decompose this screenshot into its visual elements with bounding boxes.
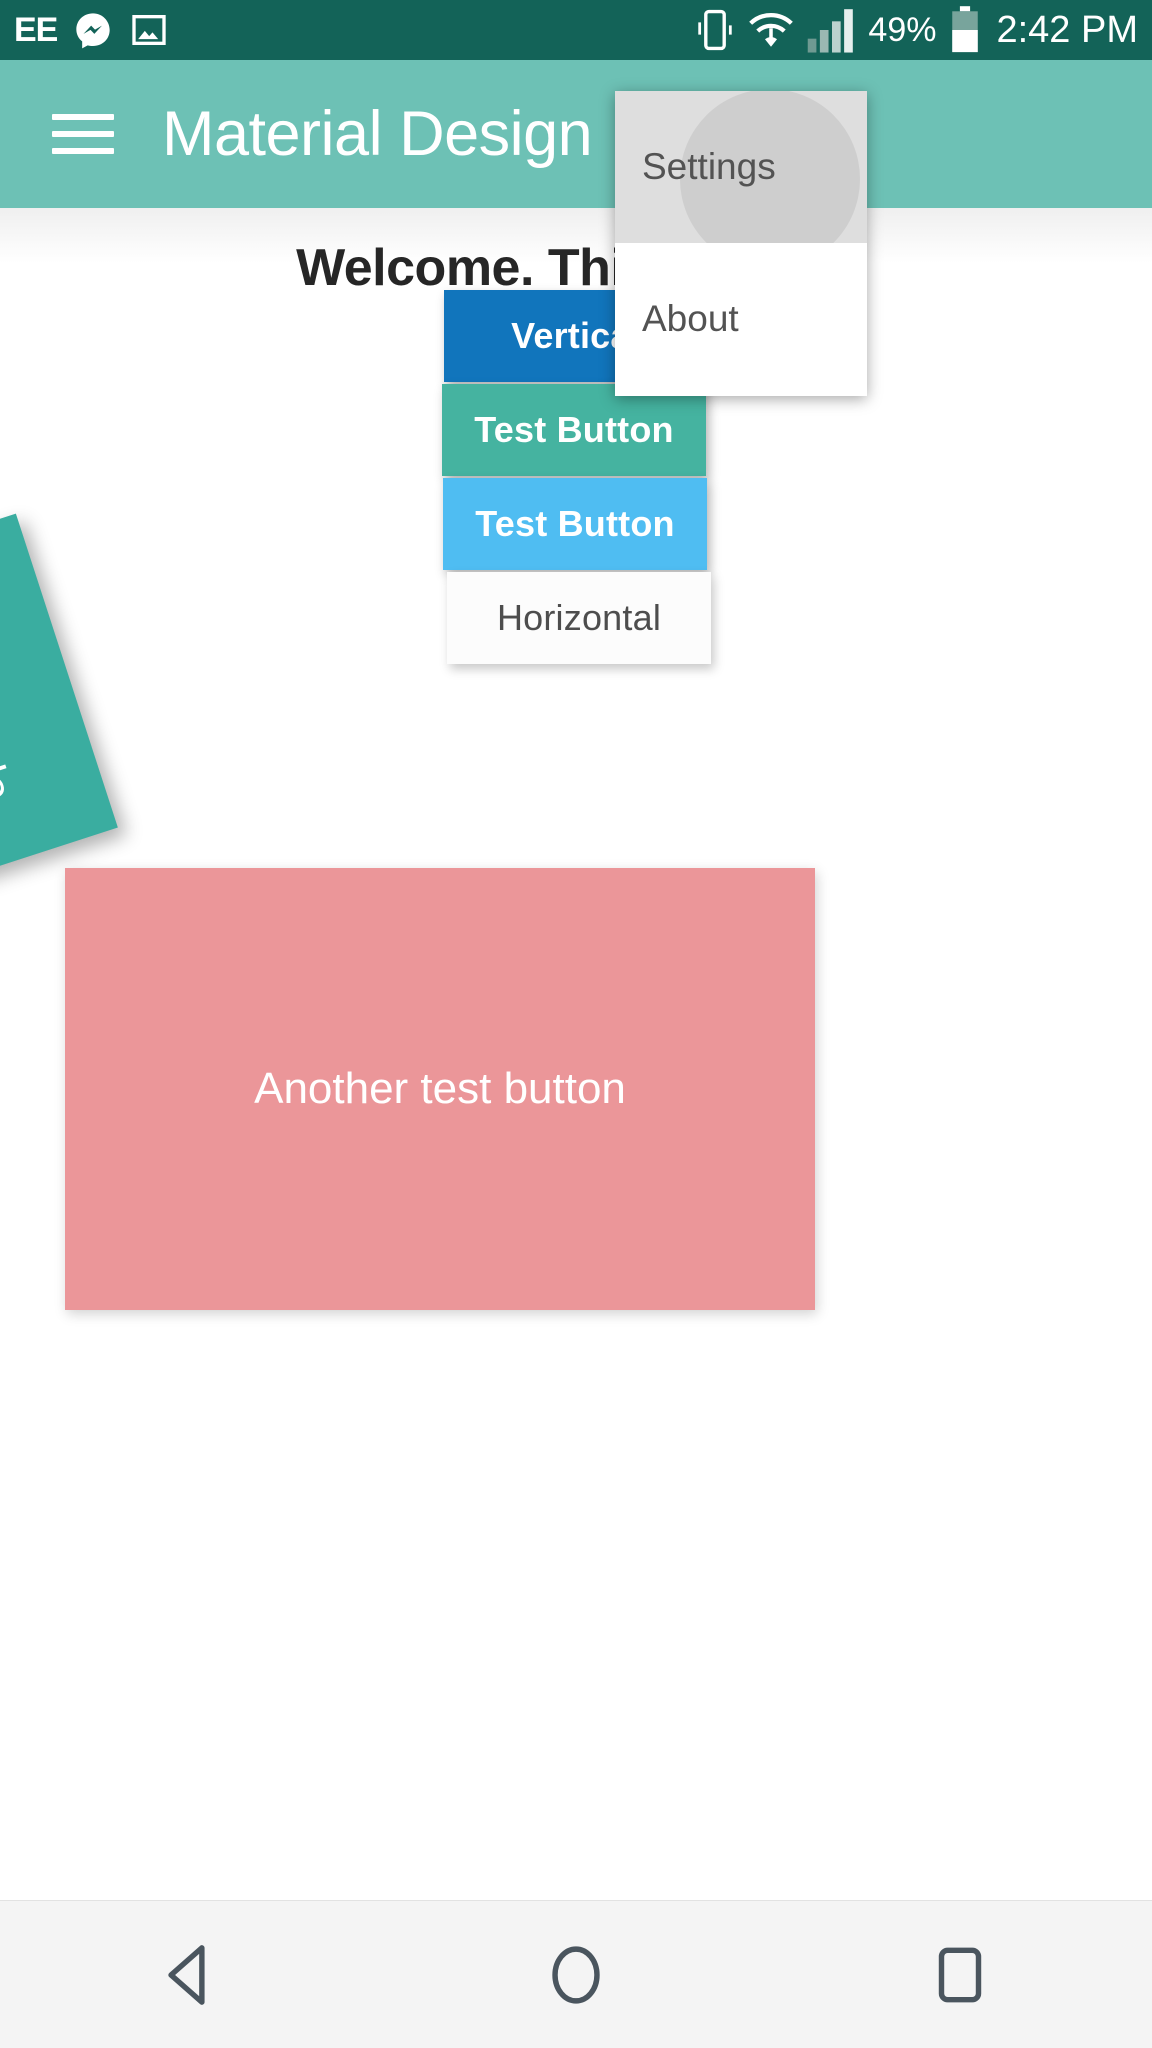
android-screen: EE bbox=[0, 0, 1152, 2048]
circle-icon[interactable] bbox=[496, 1901, 656, 2048]
test-button-teal[interactable]: Test Button bbox=[442, 384, 706, 476]
triangle-left-icon[interactable] bbox=[112, 1901, 272, 2048]
page-title: Material Design bbox=[162, 98, 592, 170]
test-button-blue[interactable]: Test Button bbox=[443, 478, 707, 570]
battery-percent-label: 49% bbox=[868, 13, 936, 47]
hamburger-icon[interactable] bbox=[52, 108, 114, 160]
menu-item-about-label: About bbox=[642, 298, 739, 340]
wifi-icon bbox=[746, 7, 796, 53]
square-icon[interactable] bbox=[880, 1901, 1040, 2048]
menu-item-settings[interactable]: Settings bbox=[615, 91, 867, 243]
status-bar-right: 49% 2:42 PM bbox=[694, 6, 1138, 54]
hamburger-line bbox=[52, 131, 114, 137]
another-test-button[interactable]: Another test button bbox=[65, 868, 815, 1310]
status-bar: EE bbox=[0, 0, 1152, 60]
status-bar-left: EE bbox=[14, 10, 169, 50]
welcome-text: Welcome. This is a test bbox=[0, 238, 1152, 298]
messenger-icon bbox=[73, 10, 113, 50]
menu-item-about[interactable]: About bbox=[615, 243, 867, 395]
app-bar: Material Design bbox=[0, 60, 1152, 208]
navigation-bar bbox=[0, 1900, 1152, 2048]
hamburger-line bbox=[52, 148, 114, 154]
main-content: Welcome. This is a test Vertical Test Bu… bbox=[0, 208, 1152, 1900]
clock-label: 2:42 PM bbox=[996, 11, 1138, 49]
draggable-card-label: Draggable bbox=[0, 599, 22, 808]
overflow-menu: Settings About bbox=[615, 91, 867, 396]
signal-icon bbox=[806, 7, 858, 53]
horizontal-button[interactable]: Horizontal bbox=[447, 572, 711, 664]
vibrate-icon bbox=[694, 7, 736, 53]
hamburger-line bbox=[52, 114, 114, 120]
menu-item-settings-label: Settings bbox=[642, 146, 776, 188]
vertical-button-stack: Vertical Test Button Test Button Horizon… bbox=[0, 290, 1152, 664]
battery-icon bbox=[948, 6, 982, 54]
photo-icon bbox=[129, 10, 169, 50]
carrier-label: EE bbox=[14, 13, 57, 47]
